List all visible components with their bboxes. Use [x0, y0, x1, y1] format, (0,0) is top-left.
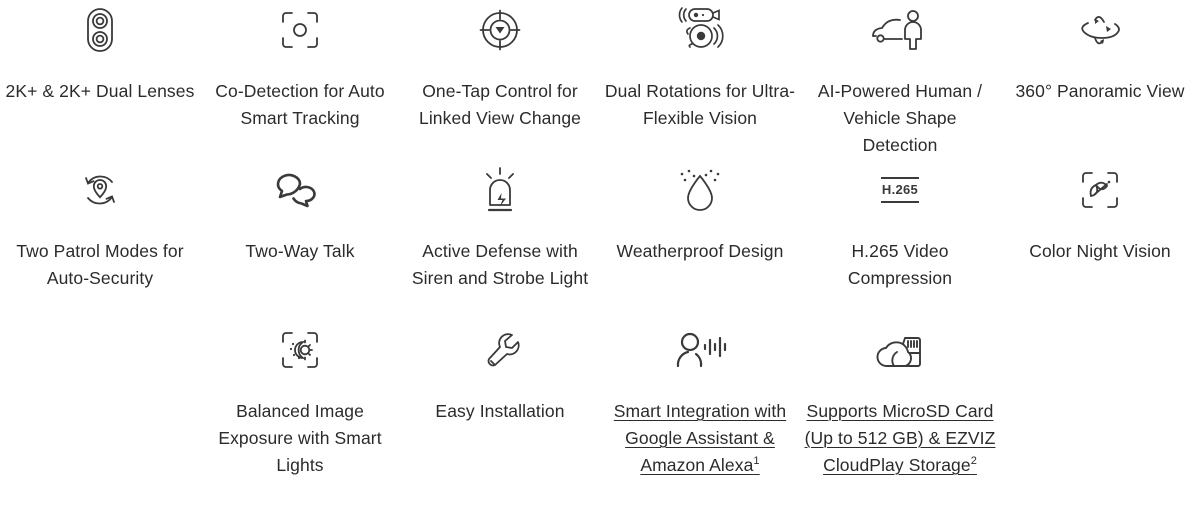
feature-label: Active Defense with Siren and Strobe Lig… — [404, 238, 596, 292]
water-droplet-icon — [674, 162, 726, 218]
feature-item-co-detection: Co-Detection for Auto Smart Tracking — [200, 0, 400, 160]
feature-label: Co-Detection for Auto Smart Tracking — [204, 78, 396, 132]
feature-label-text: Supports MicroSD Card (Up to 512 GB) & E… — [805, 401, 996, 475]
focus-frame-dot-icon — [277, 2, 323, 58]
h265-text-icon: H.265 — [881, 162, 919, 218]
feature-label: Balanced Image Exposure with Smart Light… — [204, 398, 396, 479]
feature-label[interactable]: Supports MicroSD Card (Up to 512 GB) & E… — [804, 398, 996, 479]
feature-item-patrol-modes: Two Patrol Modes for Auto-Security — [0, 160, 200, 320]
dual-rotation-camera-icon — [671, 2, 729, 58]
feature-label: Two Patrol Modes for Auto-Security — [4, 238, 196, 292]
feature-item-two-way-talk: Two-Way Talk — [200, 160, 400, 320]
feature-item-color-night-vision: Color Night Vision — [1000, 160, 1200, 320]
feature-item-dual-rotations: Dual Rotations for Ultra-Flexible Vision — [600, 0, 800, 160]
siren-strobe-icon — [476, 162, 524, 218]
cloud-sdcard-icon — [872, 322, 928, 378]
feature-item-easy-installation: Easy Installation — [400, 320, 600, 511]
h265-bottom-bar — [881, 201, 919, 203]
h265-top-bar — [881, 177, 919, 179]
360-rotation-icon — [1075, 2, 1125, 58]
feature-label: Weatherproof Design — [617, 238, 784, 265]
feature-label: 2K+ & 2K+ Dual Lenses — [6, 78, 195, 105]
feature-item-ai-detection: AI-Powered Human / Vehicle Shape Detecti… — [800, 0, 1000, 160]
feature-item-active-defense: Active Defense with Siren and Strobe Lig… — [400, 160, 600, 320]
voice-assistant-icon — [672, 322, 728, 378]
feature-item-empty-left — [0, 320, 200, 511]
night-vision-frame-icon — [1078, 162, 1122, 218]
feature-item-weatherproof: Weatherproof Design — [600, 160, 800, 320]
feature-item-storage: Supports MicroSD Card (Up to 512 GB) & E… — [800, 320, 1000, 511]
patrol-location-icon — [77, 162, 123, 218]
feature-item-dual-lenses: 2K+ & 2K+ Dual Lenses — [0, 0, 200, 160]
feature-label: AI-Powered Human / Vehicle Shape Detecti… — [804, 78, 996, 159]
dual-lens-icon — [80, 2, 120, 58]
footnote-marker: 1 — [753, 455, 759, 467]
sun-moon-frame-icon — [278, 322, 322, 378]
car-person-icon — [869, 2, 931, 58]
feature-item-h265-compression: H.265 H.265 Video Compression — [800, 160, 1000, 320]
feature-label: One-Tap Control for Linked View Change — [404, 78, 596, 132]
feature-grid: 2K+ & 2K+ Dual Lenses Co-Detection for A… — [0, 0, 1200, 511]
feature-label: H.265 Video Compression — [804, 238, 996, 292]
feature-item-smart-integration: Smart Integration with Google Assistant … — [600, 320, 800, 511]
feature-label[interactable]: Smart Integration with Google Assistant … — [604, 398, 796, 479]
h265-icon-text: H.265 — [882, 183, 918, 197]
footnote-marker: 2 — [971, 455, 977, 467]
feature-label: Color Night Vision — [1029, 238, 1171, 265]
feature-label: Easy Installation — [435, 398, 564, 425]
speech-bubbles-icon — [275, 162, 325, 218]
feature-label: Two-Way Talk — [245, 238, 354, 265]
feature-label: 360° Panoramic View — [1015, 78, 1184, 105]
feature-item-one-tap-control: One-Tap Control for Linked View Change — [400, 0, 600, 160]
feature-item-balanced-exposure: Balanced Image Exposure with Smart Light… — [200, 320, 400, 511]
feature-label: Dual Rotations for Ultra-Flexible Vision — [604, 78, 796, 132]
feature-item-panoramic-view: 360° Panoramic View — [1000, 0, 1200, 160]
target-crosshair-icon — [477, 2, 523, 58]
wrench-icon — [478, 322, 522, 378]
feature-label-text: Smart Integration with Google Assistant … — [614, 401, 786, 475]
